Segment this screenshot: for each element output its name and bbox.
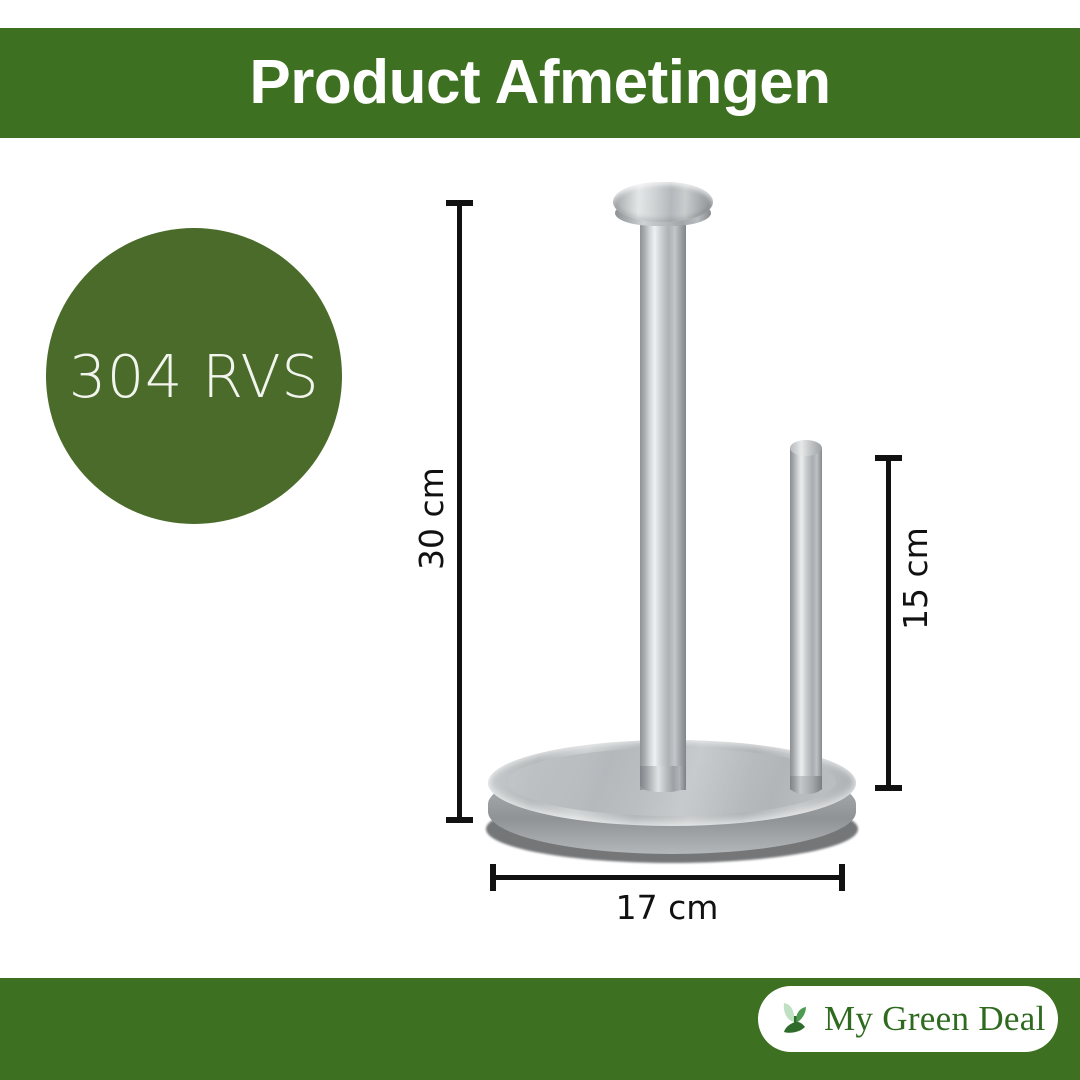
side-post (790, 448, 822, 790)
dimension-30-line (457, 203, 462, 820)
dimension-15-cap-bottom (875, 785, 902, 791)
brand-logo: My Green Deal (758, 986, 1058, 1052)
side-post-cap (790, 440, 822, 456)
dimension-15-line (886, 458, 891, 788)
dimension-17-line (492, 875, 842, 880)
page-title: Product Afmetingen (0, 28, 1080, 138)
brand-logo-text: My Green Deal (824, 999, 1046, 1039)
infographic-canvas: Product Afmetingen 304 RVS 30 cm 15 cm 1… (0, 0, 1080, 1080)
sprout-leaf-icon (772, 996, 818, 1042)
main-post (640, 210, 686, 790)
main-post-foot (640, 766, 686, 792)
material-badge: 304 RVS (46, 228, 342, 524)
dimension-30-label: 30 cm (412, 467, 451, 570)
dimension-15-label: 15 cm (896, 527, 935, 630)
dimension-17-cap-right (839, 864, 845, 891)
material-badge-label: 304 RVS (69, 342, 319, 411)
dimension-17-label: 17 cm (492, 888, 842, 927)
side-post-foot (790, 776, 822, 794)
top-knob (613, 182, 713, 222)
product-illustration (470, 170, 890, 870)
dimension-30-cap-bottom (446, 817, 473, 823)
